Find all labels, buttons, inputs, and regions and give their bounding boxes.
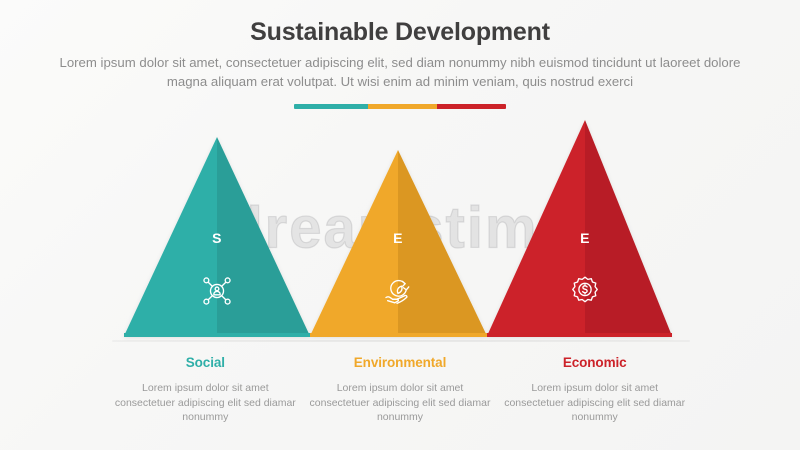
social-network-icon — [200, 274, 234, 308]
pillar-column-environmental[interactable]: Environmental Lorem ipsum dolor sit amet… — [303, 355, 498, 425]
pillar-desc-social: Lorem ipsum dolor sit amet consectetuer … — [114, 381, 297, 425]
pyramid-letter-social: S — [197, 230, 237, 246]
infographic-canvas: dreamstime Sustainable Development Lorem… — [0, 0, 800, 450]
baseline-segment-environmental — [310, 333, 487, 337]
baseline-segment-social — [124, 333, 310, 337]
pillar-desc-environmental: Lorem ipsum dolor sit amet consectetuer … — [309, 381, 492, 425]
pillar-label-economic: Economic — [503, 355, 686, 370]
pillar-column-social[interactable]: Social Lorem ipsum dolor sit amet consec… — [108, 355, 303, 425]
pyramid-letter-economic: E — [565, 230, 605, 246]
pillar-label-social: Social — [114, 355, 297, 370]
pyramid-letter-environmental: E — [378, 230, 418, 246]
pillar-desc-economic: Lorem ipsum dolor sit amet consectetuer … — [503, 381, 686, 425]
baseline-rule — [112, 340, 690, 342]
baseline-segment-economic — [487, 333, 672, 337]
gear-dollar-icon — [568, 274, 602, 308]
pyramid-baseline — [124, 333, 672, 337]
hand-leaf-recycle-icon — [381, 274, 415, 308]
pillar-label-environmental: Environmental — [309, 355, 492, 370]
pillar-descriptions: Social Lorem ipsum dolor sit amet consec… — [108, 355, 692, 425]
pillar-column-economic[interactable]: Economic Lorem ipsum dolor sit amet cons… — [497, 355, 692, 425]
